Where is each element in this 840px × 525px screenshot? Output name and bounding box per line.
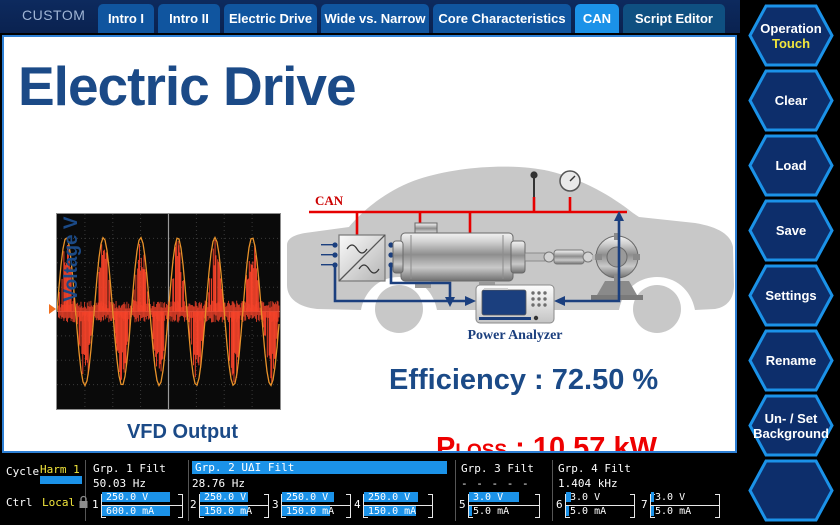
ploss-subscript: LOSS: [455, 441, 507, 453]
trigger-marker-icon: [49, 304, 56, 314]
efficiency-value: 72.50 %: [552, 364, 658, 396]
channel-5-voltage: 3.0 V: [473, 492, 503, 503]
hex-shape: [748, 394, 834, 457]
ctrl-label: Ctrl: [6, 496, 33, 509]
scope-y-axis-label: Voltage V: [61, 199, 83, 319]
softkey-load[interactable]: Load: [748, 134, 834, 197]
channel-7-voltage: 3.0 V: [655, 492, 685, 503]
scope-caption: VFD Output: [70, 421, 295, 444]
power-loss-readout: PLOSS : 10.57 kW: [436, 432, 657, 453]
channel-3-voltage: 250.0 V: [286, 492, 328, 503]
hex-shape: [748, 4, 834, 67]
soft-key-sidebar: OperationTouch Clear Load Save Settings …: [740, 0, 840, 525]
tab-wide-vs-narrow[interactable]: Wide vs. Narrow: [321, 4, 429, 33]
status-bar: Cycle Harm 1 Ctrl Local Grp. 1 Filt 50.0…: [0, 456, 740, 525]
channel-7-current: 5.0 mA: [655, 506, 691, 517]
channel-3-current: 150.0 mA: [286, 506, 334, 517]
electric-drive-diagram: CAN: [287, 157, 737, 357]
channel-5-current: 5.0 mA: [473, 506, 509, 517]
content-page: Electric Drive: [2, 35, 737, 453]
group-1-header: Grp. 1 Filt: [93, 462, 166, 475]
channel-6-current: 5.0 mA: [570, 506, 606, 517]
channel-6-number: 6: [556, 498, 563, 511]
channel-3-number: 3: [272, 498, 279, 511]
channel-5-number: 5: [459, 498, 466, 511]
hex-shape: [748, 264, 834, 327]
ctrl-value[interactable]: Local: [42, 496, 75, 509]
group-4-header: Grp. 4 Filt: [558, 462, 631, 475]
scope-screen[interactable]: [56, 213, 281, 410]
group-3-frequency: - - - - -: [461, 477, 530, 490]
softkey-save[interactable]: Save: [748, 199, 834, 262]
hex-shape: [748, 69, 834, 132]
tab-bar: CUSTOM Intro I Intro II Electric Drive W…: [0, 0, 740, 33]
channel-1-current: 600.0 mA: [106, 506, 154, 517]
hex-shape: [748, 329, 834, 392]
hex-shape: [748, 134, 834, 197]
softkey-clear[interactable]: Clear: [748, 69, 834, 132]
tab-electric-drive[interactable]: Electric Drive: [224, 4, 317, 33]
group-3-header: Grp. 3 Filt: [461, 462, 534, 475]
tab-script-editor[interactable]: Script Editor: [623, 4, 725, 33]
channel-4-voltage: 250.0 V: [368, 492, 410, 503]
channel-6-voltage: 3.0 V: [570, 492, 600, 503]
hex-shape: [748, 199, 834, 262]
lock-icon: [78, 495, 89, 509]
tab-core-characteristics[interactable]: Core Characteristics: [433, 4, 571, 33]
group-4-frequency: 1.404 kHz: [558, 477, 618, 490]
softkey-operation[interactable]: OperationTouch: [748, 4, 834, 67]
ploss-separator: :: [507, 432, 533, 453]
hex-shape: [748, 459, 834, 522]
diagram-svg: CAN: [287, 157, 737, 357]
cycle-label: Cycle: [6, 465, 39, 478]
softkey-rename[interactable]: Rename: [748, 329, 834, 392]
channel-1-number: 1: [92, 498, 99, 511]
channel-1-voltage: 250.0 V: [106, 492, 148, 503]
tab-intro-1[interactable]: Intro I: [98, 4, 154, 33]
efficiency-label: Efficiency :: [389, 364, 544, 396]
cycle-value[interactable]: Harm 1: [40, 463, 80, 476]
scope-waveform: [57, 214, 280, 409]
tab-intro-2[interactable]: Intro II: [158, 4, 220, 33]
channel-2-number: 2: [190, 498, 197, 511]
vfd-scope: Voltage V VFD Output: [56, 213, 281, 410]
cycle-bar: [40, 476, 82, 484]
efficiency-readout: Efficiency : 72.50 %: [389, 364, 658, 397]
softkey-settings[interactable]: Settings: [748, 264, 834, 327]
channel-2-current: 150.0 mA: [204, 506, 252, 517]
group-1-frequency: 50.03 Hz: [93, 477, 146, 490]
can-label: CAN: [315, 193, 344, 208]
page-title: Electric Drive: [18, 59, 356, 114]
ploss-value: 10.57 kW: [533, 432, 657, 453]
channel-7-number: 7: [641, 498, 648, 511]
channel-2-voltage: 250.0 V: [204, 492, 246, 503]
channel-4-current: 150.0 mA: [368, 506, 416, 517]
inverter-icon: [339, 235, 385, 281]
tab-can[interactable]: CAN: [575, 4, 619, 33]
application-window: CUSTOM Intro I Intro II Electric Drive W…: [0, 0, 840, 525]
ploss-label: P: [436, 432, 455, 453]
channel-4-number: 4: [354, 498, 361, 511]
power-analyzer-label: Power Analyzer: [468, 328, 563, 343]
power-analyzer-icon: [476, 285, 554, 323]
softkey-blank[interactable]: [748, 459, 834, 522]
group-2-header[interactable]: Grp. 2 UΔI Filt: [192, 461, 447, 474]
softkey-un-set-background[interactable]: Un- / Set Background: [748, 394, 834, 457]
group-2-frequency: 28.76 Hz: [192, 477, 245, 490]
gauge-sensor-icon: [560, 171, 580, 191]
custom-label: CUSTOM: [22, 7, 85, 23]
